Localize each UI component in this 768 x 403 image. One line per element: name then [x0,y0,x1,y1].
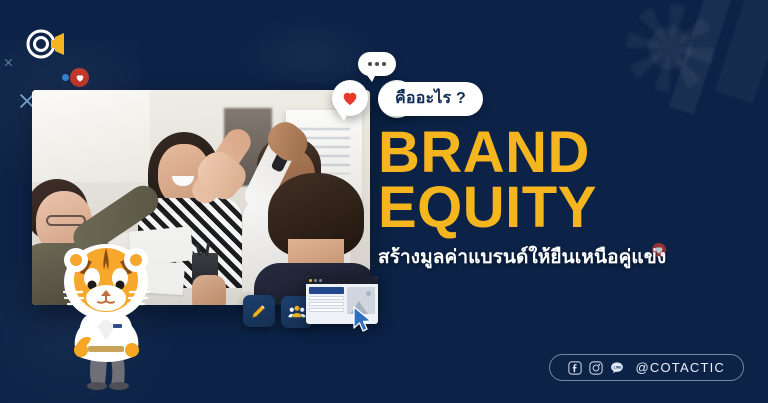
typing-indicator-bubble [358,52,396,76]
facebook-icon[interactable] [568,361,582,375]
content-line [309,302,344,306]
browser-title-bar [306,276,378,284]
title-line-1: BRAND [378,126,750,179]
heart-badge-icon [70,68,89,87]
window-dot-3 [319,279,322,282]
sparkle-icon-small [2,56,15,69]
mouse-pointer-icon [352,306,374,332]
subtitle: สร้างมูลค่าแบรนด์ให้ยืนเหนือคู่แข่ง [378,242,750,272]
dot-2 [375,62,379,66]
tiger-mascot [52,240,160,390]
like-heart-bubble [332,80,368,116]
heart-icon [341,89,359,107]
banner-canvas: คืออะไร ? BRAND EQUITY สร้างมูลค่าแบรนด์… [0,0,768,403]
line-icon[interactable]: LINE [610,361,624,375]
dot-decoration [62,74,69,81]
headline-block: คืออะไร ? BRAND EQUITY สร้างมูลค่าแบรนด์… [378,82,750,272]
instagram-icon[interactable] [589,361,603,375]
window-dot-1 [309,279,312,282]
people-group-icon [288,303,306,321]
social-handle: @COTACTIC [636,360,725,375]
window-dot-2 [314,279,317,282]
gear-decoration-icon [626,4,714,92]
question-badge: คืออะไร ? [378,82,483,116]
cotactic-logo[interactable] [22,25,70,63]
title-line-2: EQUITY [378,181,750,234]
dot-3 [382,62,386,66]
content-line [309,296,344,300]
social-bar[interactable]: LINE @COTACTIC [549,354,744,381]
pencil-icon [250,302,268,320]
edit-button[interactable] [243,295,275,327]
svg-text:LINE: LINE [613,365,622,369]
content-header-bar [309,287,344,294]
content-line [309,308,344,312]
dot-1 [368,62,372,66]
